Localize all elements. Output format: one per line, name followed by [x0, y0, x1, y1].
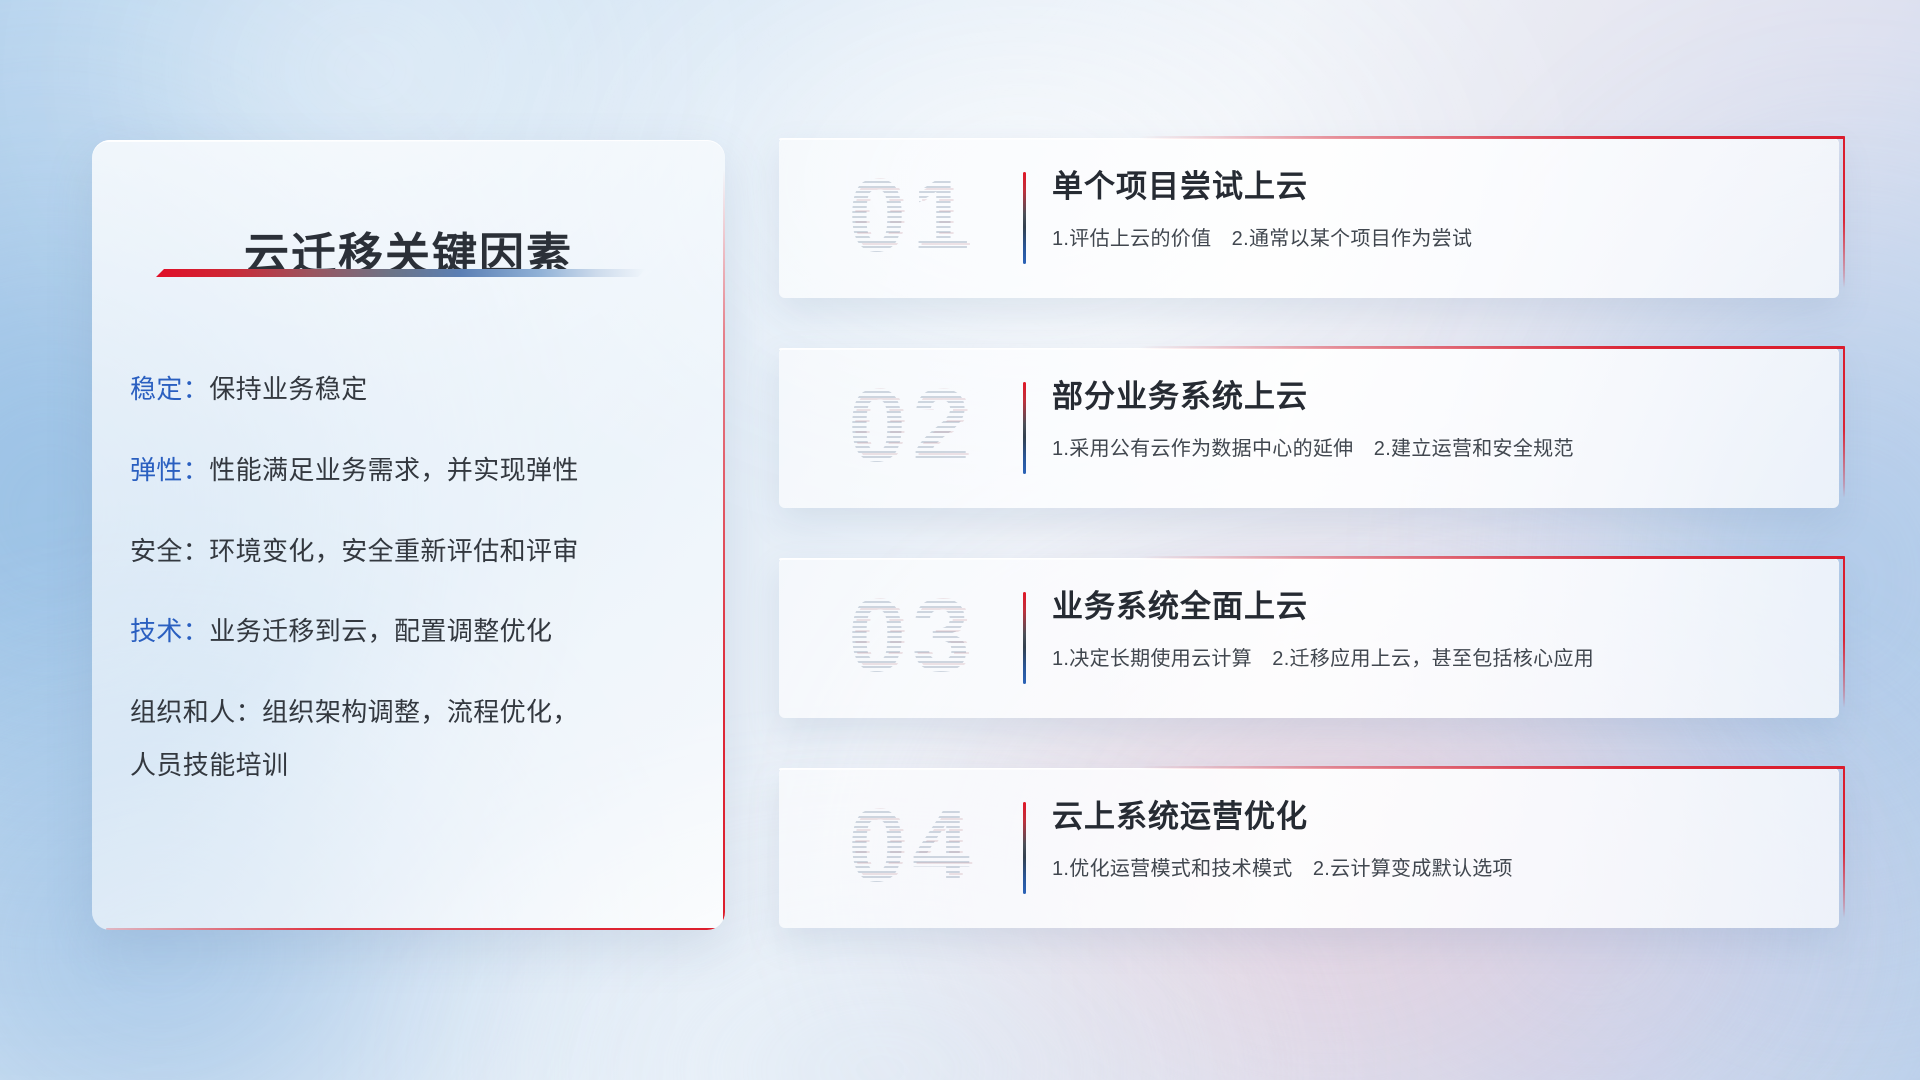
card-top-red-accent — [1139, 346, 1845, 349]
card-number-ghost: 01 — [810, 146, 1020, 286]
card-right-red-accent — [1843, 346, 1846, 498]
list-item-label: 技术： — [130, 616, 209, 646]
list-item-text: 业务迁移到云，配置调整优化 — [209, 616, 552, 646]
list-item: 弹性：性能满足业务需求，并实现弹性 — [130, 453, 695, 488]
card-body: 单个项目尝试上云 1.评估上云的价值 2.通常以某个项目作为尝试 — [1052, 168, 1813, 251]
list-item-label: 稳定： — [130, 374, 209, 404]
card-gradient-divider — [1023, 172, 1026, 264]
card-gradient-divider — [1023, 382, 1026, 474]
stage-card-02[interactable]: 02 02 部分业务系统上云 1.采用公有云作为数据中心的延伸 2.建立运营和安… — [779, 348, 1839, 508]
card-right-red-accent — [1843, 556, 1846, 708]
list-item: 稳定：保持业务稳定 — [130, 372, 695, 407]
panel-bottom-red-accent — [106, 928, 725, 931]
key-factors-panel: 云迁移关键因素 稳定：保持业务稳定 弹性：性能满足业务需求，并实现弹性 安全：环… — [92, 140, 725, 930]
list-item: 技术：业务迁移到云，配置调整优化 — [130, 614, 695, 649]
card-right-red-accent — [1843, 766, 1846, 918]
card-top-red-accent — [1139, 136, 1845, 139]
card-right-red-accent — [1843, 136, 1846, 288]
card-body: 云上系统运营优化 1.优化运营模式和技术模式 2.云计算变成默认选项 — [1052, 798, 1813, 881]
panel-top-highlight — [92, 140, 665, 142]
migration-stage-cards: 01 01 单个项目尝试上云 1.评估上云的价值 2.通常以某个项目作为尝试 0… — [779, 138, 1839, 928]
card-title: 云上系统运营优化 — [1052, 798, 1813, 836]
card-description: 1.采用公有云作为数据中心的延伸 2.建立运营和安全规范 — [1052, 432, 1813, 461]
card-description: 1.优化运营模式和技术模式 2.云计算变成默认选项 — [1052, 852, 1813, 881]
list-item-continuation: 人员技能培训 — [130, 748, 695, 783]
stage-card-01[interactable]: 01 01 单个项目尝试上云 1.评估上云的价值 2.通常以某个项目作为尝试 — [779, 138, 1839, 298]
stage-card-03[interactable]: 03 03 业务系统全面上云 1.决定长期使用云计算 2.迁移应用上云，甚至包括… — [779, 558, 1839, 718]
card-gradient-divider — [1023, 802, 1026, 894]
card-body: 业务系统全面上云 1.决定长期使用云计算 2.迁移应用上云，甚至包括核心应用 — [1052, 588, 1813, 671]
list-item-label: 安全： — [130, 536, 209, 566]
card-number-ghost: 04 — [810, 776, 1020, 916]
card-number-ghost: 03 — [810, 566, 1020, 706]
card-title: 单个项目尝试上云 — [1052, 168, 1813, 206]
list-item-label: 弹性： — [130, 455, 209, 485]
list-item-text: 性能满足业务需求，并实现弹性 — [209, 455, 579, 485]
card-description: 1.评估上云的价值 2.通常以某个项目作为尝试 — [1052, 222, 1813, 251]
key-factors-list: 稳定：保持业务稳定 弹性：性能满足业务需求，并实现弹性 安全：环境变化，安全重新… — [130, 372, 695, 783]
stage-card-04[interactable]: 04 04 云上系统运营优化 1.优化运营模式和技术模式 2.云计算变成默认选项 — [779, 768, 1839, 928]
list-item-text: 保持业务稳定 — [209, 374, 367, 404]
card-description: 1.决定长期使用云计算 2.迁移应用上云，甚至包括核心应用 — [1052, 642, 1813, 671]
card-title: 部分业务系统上云 — [1052, 378, 1813, 416]
slide-stage: 云迁移关键因素 稳定：保持业务稳定 弹性：性能满足业务需求，并实现弹性 安全：环… — [0, 0, 1920, 1080]
card-top-red-accent — [1139, 766, 1845, 769]
card-gradient-divider — [1023, 592, 1026, 684]
card-body: 部分业务系统上云 1.采用公有云作为数据中心的延伸 2.建立运营和安全规范 — [1052, 378, 1813, 461]
list-item-label: 组织和人： — [130, 697, 262, 727]
title-gradient-underline — [156, 269, 646, 277]
card-top-red-accent — [1139, 556, 1845, 559]
card-number-ghost: 02 — [810, 356, 1020, 496]
list-item-text: 组织架构调整，流程优化， — [262, 697, 579, 727]
card-title: 业务系统全面上云 — [1052, 588, 1813, 626]
list-item: 安全：环境变化，安全重新评估和评审 — [130, 534, 695, 569]
list-item: 组织和人：组织架构调整，流程优化， — [130, 695, 695, 730]
list-item-text: 环境变化，安全重新评估和评审 — [209, 536, 579, 566]
